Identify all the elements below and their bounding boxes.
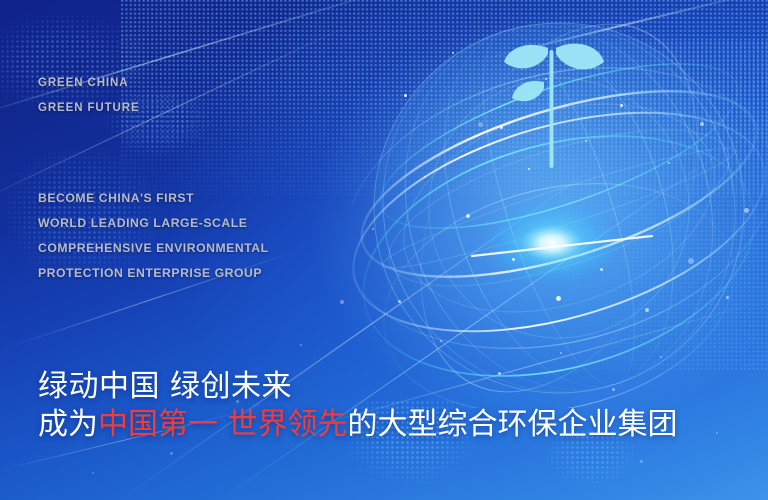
subheading-line-2: WORLD LEADING LARGE-SCALE — [38, 211, 269, 236]
headline-accent: 中国第一 世界领先 — [98, 407, 348, 442]
subheading-block: BECOME CHINA'S FIRST WORLD LEADING LARGE… — [38, 186, 269, 286]
globe-wireframe — [352, 8, 768, 408]
subheading-line-1: BECOME CHINA'S FIRST — [38, 186, 269, 211]
headline-line-2: 成为中国第一 世界领先的大型综合环保企业集团 — [38, 406, 678, 444]
tagline-line-1: GREEN CHINA — [38, 71, 140, 96]
headline-line2-suffix: 的大型综合环保企业集团 — [348, 407, 678, 442]
tagline-line-2: GREEN FUTURE — [38, 96, 140, 121]
headline-line2-prefix: 成为 — [38, 407, 98, 442]
globe-core-glow — [482, 201, 622, 285]
globe-graphic — [352, 8, 768, 408]
headline-line-1: 绿动中国 绿创未来 — [38, 368, 678, 406]
headline-block: 绿动中国 绿创未来 成为中国第一 世界领先的大型综合环保企业集团 — [38, 368, 678, 444]
subheading-line-3: COMPREHENSIVE ENVIRONMENTAL — [38, 236, 269, 261]
hero-banner: GREEN CHINA GREEN FUTURE BECOME CHINA'S … — [0, 0, 768, 500]
tagline-block: GREEN CHINA GREEN FUTURE — [38, 71, 140, 121]
subheading-line-4: PROTECTION ENTERPRISE GROUP — [38, 261, 269, 286]
